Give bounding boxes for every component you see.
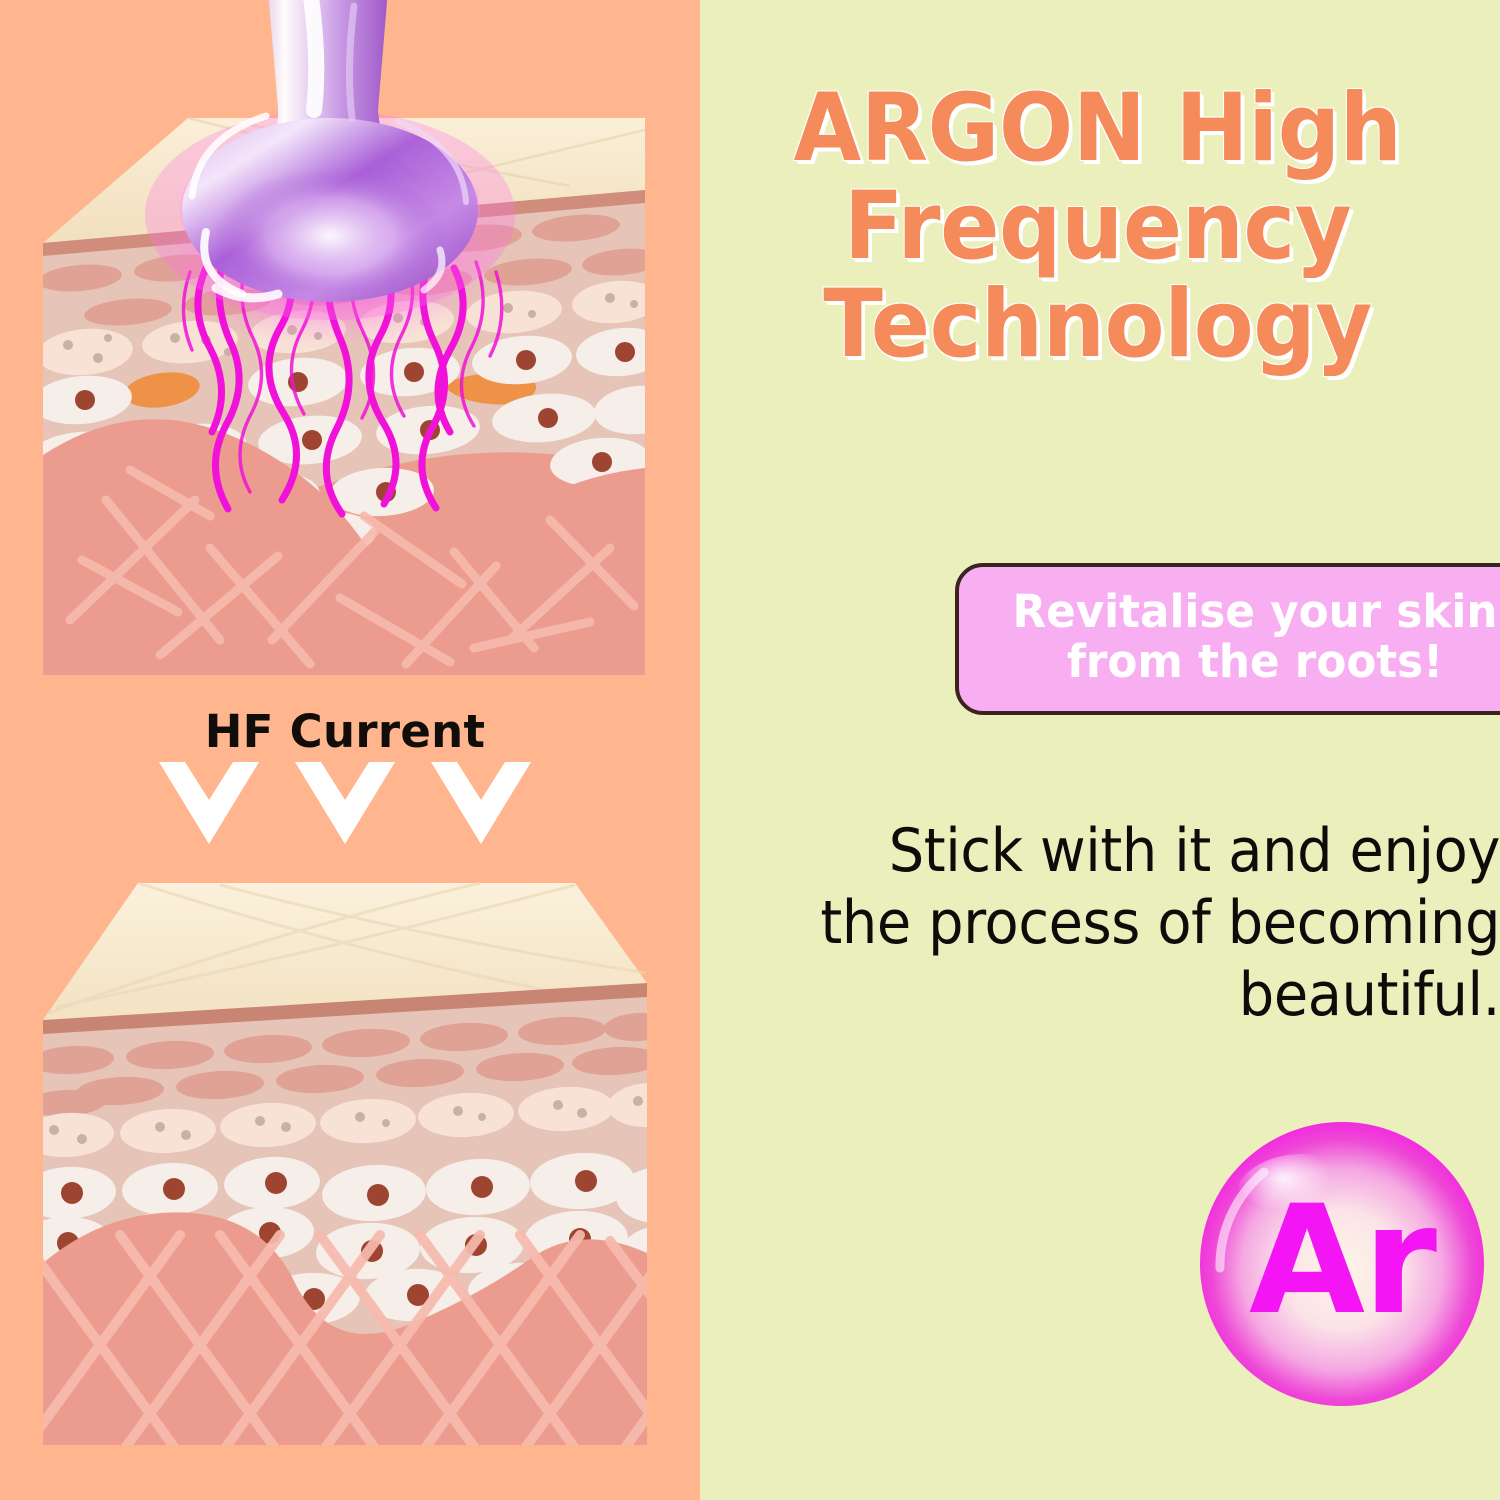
element-symbol: Ar [1196,1118,1488,1410]
tagline-line-1: Revitalise your skin [1013,585,1498,638]
page-title-line-1: ARGON High [737,80,1458,178]
page-title: ARGON High Frequency Technology [737,80,1458,373]
glass-electrode-wand [145,0,515,320]
poster-root: HF Current [0,0,1500,1500]
chevron-down-icon [295,762,395,844]
tagline-text: Revitalise your skin from the roots! [997,587,1500,692]
body-copy: Stick with it and enjoy the process of b… [793,815,1500,1031]
page-title-line-3: Technology [737,276,1458,374]
hf-current-label: HF Current [0,705,690,758]
chevron-down-icon [159,762,259,844]
page-title-line-2: Frequency [737,178,1458,276]
tagline-line-2: from the roots! [1067,635,1443,688]
tagline-badge: Revitalise your skin from the roots! [955,563,1500,715]
skin-diagram-result [10,855,700,1455]
body-copy-line-1: Stick with it and enjoy [889,816,1500,886]
body-copy-line-2: the process of becoming [820,888,1500,958]
chevron-down-icon [431,762,531,844]
left-illustration-panel: HF Current [0,0,700,1500]
skin-diagram-treatment [10,0,700,700]
body-copy-line-3: beautiful. [1239,960,1500,1030]
argon-element-bubble: Ar [1196,1118,1488,1410]
right-content-panel: ARGON High Frequency Technology Revitali… [700,0,1500,1500]
hf-current-arrow-group [0,762,690,844]
